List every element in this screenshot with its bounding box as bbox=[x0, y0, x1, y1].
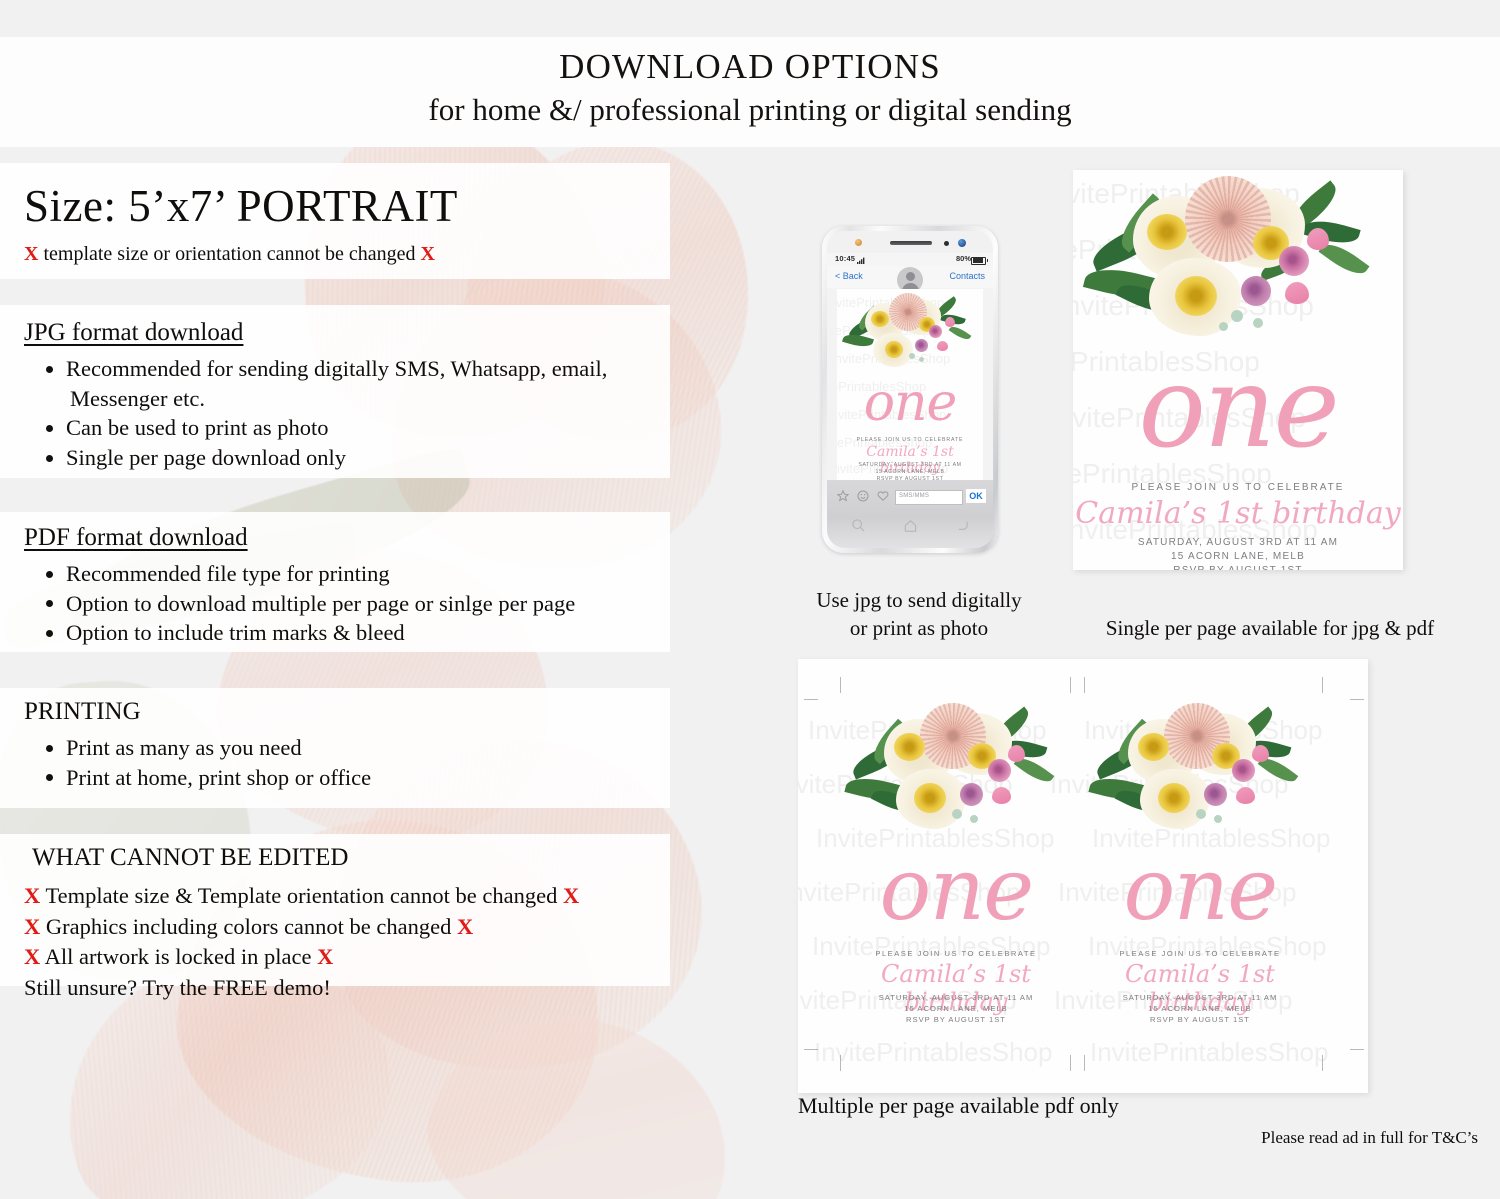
floral-bouquet-artwork bbox=[1086, 699, 1314, 851]
x-mark-icon: X bbox=[24, 883, 40, 908]
back-icon[interactable] bbox=[955, 518, 970, 533]
system-nav-bar bbox=[827, 514, 993, 540]
trim-mark bbox=[1070, 677, 1071, 693]
invitation-card-single: InvitePrintablesShop InvitePrintablesSho… bbox=[1073, 170, 1403, 570]
invitation-line-3: 15 ACORN LANE, MELB bbox=[1086, 1004, 1314, 1013]
size-note: X template size or orientation cannot be… bbox=[24, 243, 664, 265]
trim-mark bbox=[1350, 1049, 1364, 1050]
invitation-line-3: 15 ACORN LANE, MELB bbox=[842, 1004, 1070, 1013]
status-time: 10:45 bbox=[835, 254, 855, 263]
invitation-line-2: SATURDAY, AUGUST 3RD AT 11 AM bbox=[842, 993, 1070, 1002]
caption-phone-line-1: Use jpg to send digitally bbox=[790, 586, 1048, 614]
trim-mark bbox=[1350, 699, 1364, 700]
x-mark-icon: X bbox=[421, 243, 435, 265]
x-mark-icon: X bbox=[317, 944, 333, 969]
invitation-line-1: PLEASE JOIN US TO CELEBRATE bbox=[1073, 482, 1403, 493]
cannot-edit-line: X Graphics including colors cannot be ch… bbox=[24, 912, 674, 943]
trim-mark bbox=[840, 677, 841, 693]
invitation-line-3: 15 ACORN LANE, MELB bbox=[1073, 551, 1403, 562]
invitation-card-copy: one PLEASE JOIN US TO CELEBRATE Camila’s… bbox=[842, 699, 1070, 1049]
invitation-line-4: RSVP BY AUGUST 1ST bbox=[842, 1015, 1070, 1024]
front-camera-icon bbox=[958, 239, 966, 247]
list-item: Messenger etc. bbox=[46, 384, 669, 414]
x-mark-icon: X bbox=[24, 243, 38, 265]
caption-single-page: Single per page available for jpg & pdf bbox=[1050, 616, 1490, 641]
invitation-line-2: SATURDAY, AUGUST 3RD AT 11 AM bbox=[1086, 993, 1314, 1002]
list-item: Can be used to print as photo bbox=[46, 413, 669, 443]
invitation-preview-phone: InvitePrintablesShop InvitePrintablesSho… bbox=[837, 289, 983, 480]
speaker-grille-icon bbox=[890, 241, 932, 245]
invitation-big-word: one bbox=[1073, 352, 1403, 464]
invitation-line-1: PLEASE JOIN US TO CELEBRATE bbox=[842, 949, 1070, 958]
x-mark-icon: X bbox=[24, 944, 40, 969]
cannot-edit-line: X Template size & Template orientation c… bbox=[24, 881, 674, 912]
size-panel: Size: 5’x7’ PORTRAIT X template size or … bbox=[24, 184, 664, 265]
invitation-card-copy: one PLEASE JOIN US TO CELEBRATE Camila’s… bbox=[1086, 699, 1314, 1049]
invitation-line-3: 15 ACORN LANE, MELB bbox=[837, 469, 983, 475]
invitation-big-word: one bbox=[842, 847, 1070, 933]
contacts-button[interactable]: Contacts bbox=[949, 271, 985, 281]
trim-mark bbox=[1084, 1055, 1085, 1071]
search-icon[interactable] bbox=[851, 518, 866, 533]
printing-panel: PRINTING Print as many as you need Print… bbox=[24, 697, 669, 792]
background-floral-artwork bbox=[0, 120, 780, 1199]
home-icon[interactable] bbox=[903, 518, 918, 533]
list-item: Recommended file type for printing bbox=[46, 559, 669, 589]
multi-page-sheet: InvitePrintablesShop InvitePrintablesSho… bbox=[798, 659, 1368, 1093]
list-item: Option to download multiple per page or … bbox=[46, 589, 669, 619]
invitation-big-word: one bbox=[837, 377, 983, 429]
sms-input[interactable]: SMS/MMS bbox=[895, 490, 963, 505]
cannot-edit-line: X All artwork is locked in place X bbox=[24, 942, 674, 973]
trim-mark bbox=[804, 699, 818, 700]
proximity-sensor-icon bbox=[944, 241, 949, 246]
cannot-edit-line-text: All artwork is locked in place bbox=[45, 944, 312, 969]
printing-bullet-list: Print as many as you need Print at home,… bbox=[24, 733, 669, 792]
printing-section-title: PRINTING bbox=[24, 697, 669, 727]
invitation-line-1: PLEASE JOIN US TO CELEBRATE bbox=[837, 437, 983, 443]
sms-input-placeholder: SMS/MMS bbox=[899, 493, 929, 499]
pdf-panel: PDF format download Recommended file typ… bbox=[24, 523, 669, 648]
jpg-section-title: JPG format download bbox=[24, 318, 669, 348]
x-mark-icon: X bbox=[457, 914, 473, 939]
battery-icon bbox=[971, 257, 986, 266]
trim-mark bbox=[840, 1055, 841, 1071]
jpg-panel: JPG format download Recommended for send… bbox=[24, 318, 669, 473]
pdf-bullet-list: Recommended file type for printing Optio… bbox=[24, 559, 669, 648]
trim-mark bbox=[1322, 1055, 1323, 1071]
pdf-section-title: PDF format download bbox=[24, 523, 669, 553]
back-button[interactable]: < Back bbox=[835, 271, 863, 281]
floral-bouquet-artwork bbox=[842, 699, 1070, 851]
invitation-line-2: SATURDAY, AUGUST 3RD AT 11 AM bbox=[837, 462, 983, 468]
terms-note: Please read ad in full for T&C’s bbox=[1261, 1128, 1478, 1148]
ok-button[interactable]: OK bbox=[966, 489, 986, 503]
star-icon[interactable] bbox=[837, 490, 849, 502]
message-compose-row: SMS/MMS OK bbox=[827, 486, 993, 506]
invitation-name: Camila’s 1st birthday bbox=[1073, 496, 1403, 531]
cannot-edit-title: WHAT CANNOT BE EDITED bbox=[24, 843, 674, 873]
cannot-edit-footer: Still unsure? Try the FREE demo! bbox=[24, 973, 674, 1004]
cannot-edit-line-text: Graphics including colors cannot be chan… bbox=[46, 914, 452, 939]
list-item: Print at home, print shop or office bbox=[46, 763, 669, 793]
x-mark-icon: X bbox=[24, 914, 40, 939]
caption-phone-line-2: or print as photo bbox=[790, 614, 1048, 642]
page-subtitle: for home &/ professional printing or dig… bbox=[0, 92, 1500, 128]
avatar-head bbox=[906, 272, 915, 281]
trim-mark bbox=[1322, 677, 1323, 693]
invitation-big-word: one bbox=[1086, 847, 1314, 933]
trim-mark bbox=[1070, 1055, 1071, 1071]
heart-icon[interactable] bbox=[877, 490, 889, 502]
list-item: Recommended for sending digitally SMS, W… bbox=[46, 354, 669, 384]
jpg-bullet-list: Recommended for sending digitally SMS, W… bbox=[24, 354, 669, 473]
invitation-line-4: RSVP BY AUGUST 1ST bbox=[1073, 565, 1403, 570]
phone-mockup: 10:45 80% < Back Contacts InvitePrintabl… bbox=[822, 226, 998, 553]
list-item: Print as many as you need bbox=[46, 733, 669, 763]
floral-bouquet-artwork bbox=[1073, 170, 1403, 360]
size-note-text: template size or orientation cannot be c… bbox=[43, 243, 415, 265]
signal-bars-icon bbox=[857, 257, 866, 264]
x-mark-icon: X bbox=[563, 883, 579, 908]
floral-bouquet-artwork bbox=[837, 289, 983, 377]
size-heading: Size: 5’x7’ PORTRAIT bbox=[24, 184, 664, 229]
caption-multi-page: Multiple per page available pdf only bbox=[798, 1093, 1218, 1119]
phone-earpiece-area bbox=[827, 231, 993, 253]
caption-phone: Use jpg to send digitally or print as ph… bbox=[790, 586, 1048, 643]
status-battery-text: 80% bbox=[956, 254, 971, 263]
sensor-icon bbox=[855, 239, 862, 246]
invitation-line-1: PLEASE JOIN US TO CELEBRATE bbox=[1086, 949, 1314, 958]
cannot-edit-panel: WHAT CANNOT BE EDITED X Template size & … bbox=[24, 843, 674, 1003]
invitation-line-4: RSVP BY AUGUST 1ST bbox=[1086, 1015, 1314, 1024]
list-item: Single per page download only bbox=[46, 443, 669, 473]
page-title: DOWNLOAD OPTIONS bbox=[0, 47, 1500, 87]
emoji-icon[interactable] bbox=[857, 490, 869, 502]
page-root: DOWNLOAD OPTIONS for home &/ professiona… bbox=[0, 0, 1500, 1199]
phone-screen: 10:45 80% < Back Contacts InvitePrintabl… bbox=[827, 231, 993, 548]
cannot-edit-line-text: Template size & Template orientation can… bbox=[45, 883, 557, 908]
invitation-line-2: SATURDAY, AUGUST 3RD AT 11 AM bbox=[1073, 537, 1403, 548]
list-item: Option to include trim marks & bleed bbox=[46, 618, 669, 648]
trim-mark bbox=[1084, 677, 1085, 693]
trim-mark bbox=[804, 1049, 818, 1050]
